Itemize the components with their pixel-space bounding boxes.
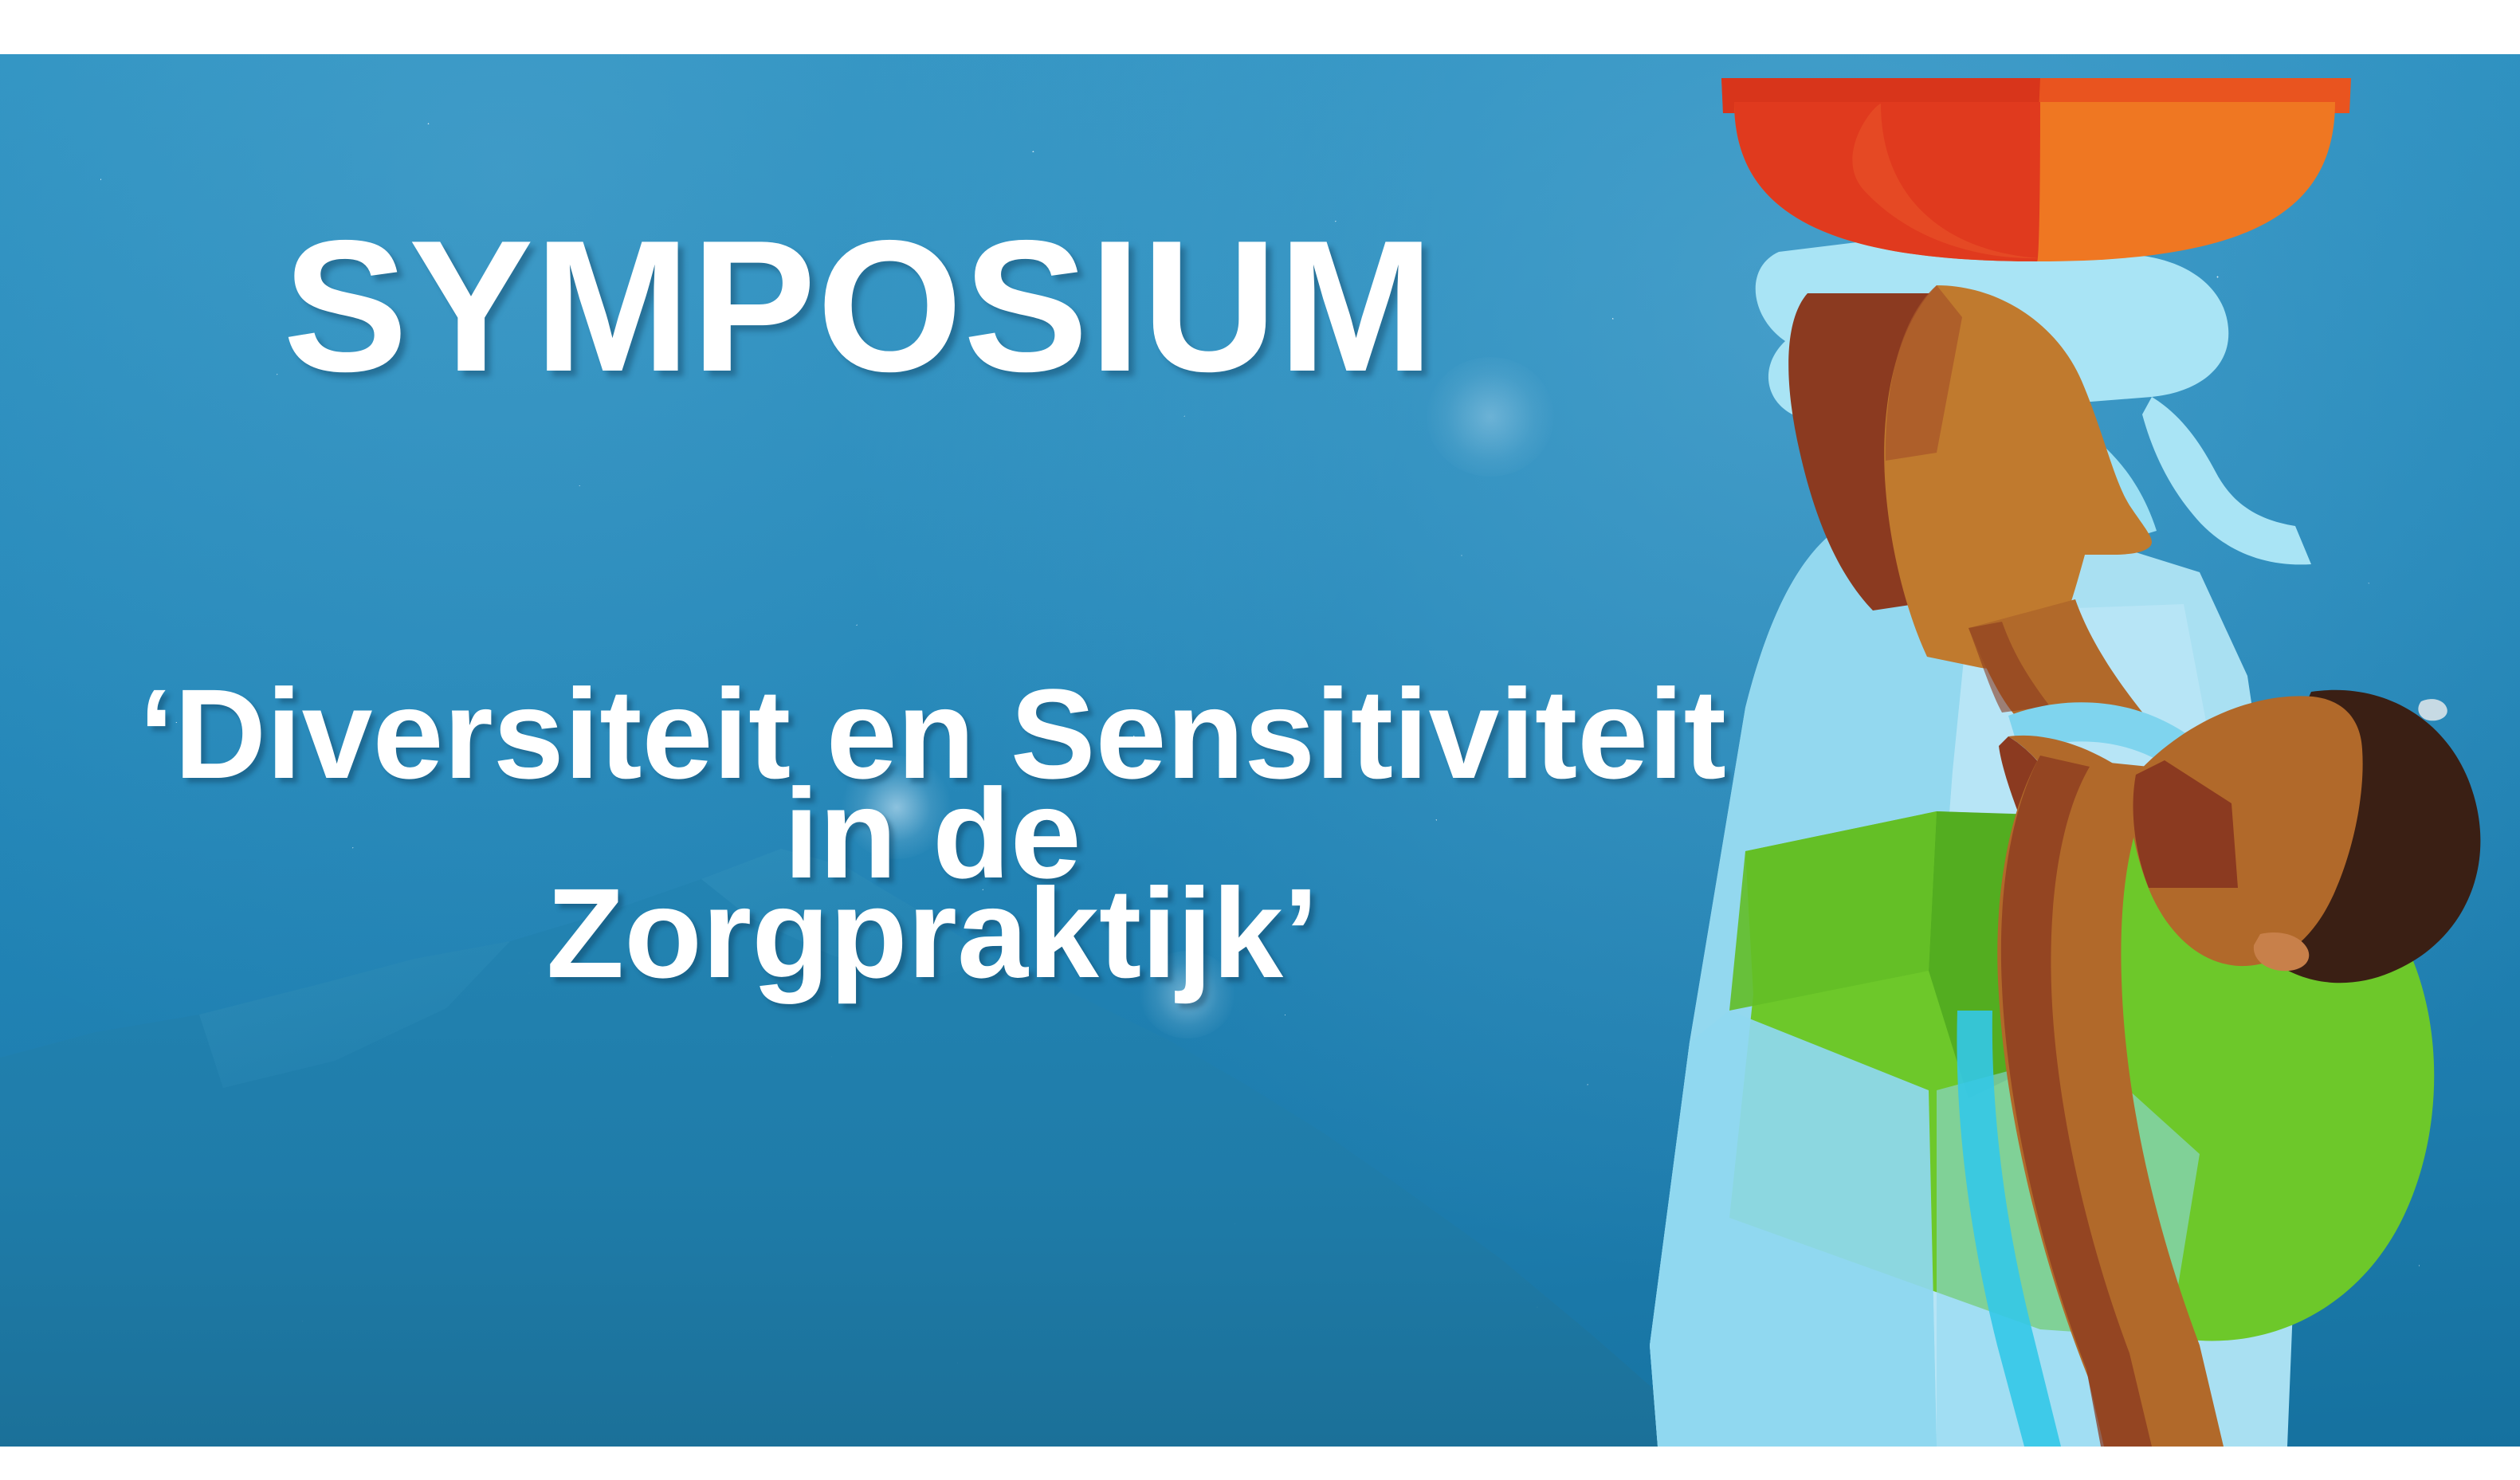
page-margin-top [0, 0, 2520, 54]
slide-canvas: SYMPOSIUM ‘Diversiteit en Sensitiviteit … [0, 54, 2520, 1447]
lens-flare-glow [1427, 357, 1554, 477]
slide-root: SYMPOSIUM ‘Diversiteit en Sensitiviteit … [0, 0, 2520, 1480]
page-title: SYMPOSIUM [283, 212, 1435, 399]
subtitle-line-3: Zorgpraktijk’ [48, 883, 1817, 983]
illustration-woman-with-bowl-and-baby [1594, 54, 2520, 1447]
page-subtitle: ‘Diversiteit en Sensitiviteit in de Zorg… [48, 684, 1817, 983]
page-margin-bottom [0, 1447, 2520, 1480]
calabash-bowl [1721, 78, 2351, 261]
